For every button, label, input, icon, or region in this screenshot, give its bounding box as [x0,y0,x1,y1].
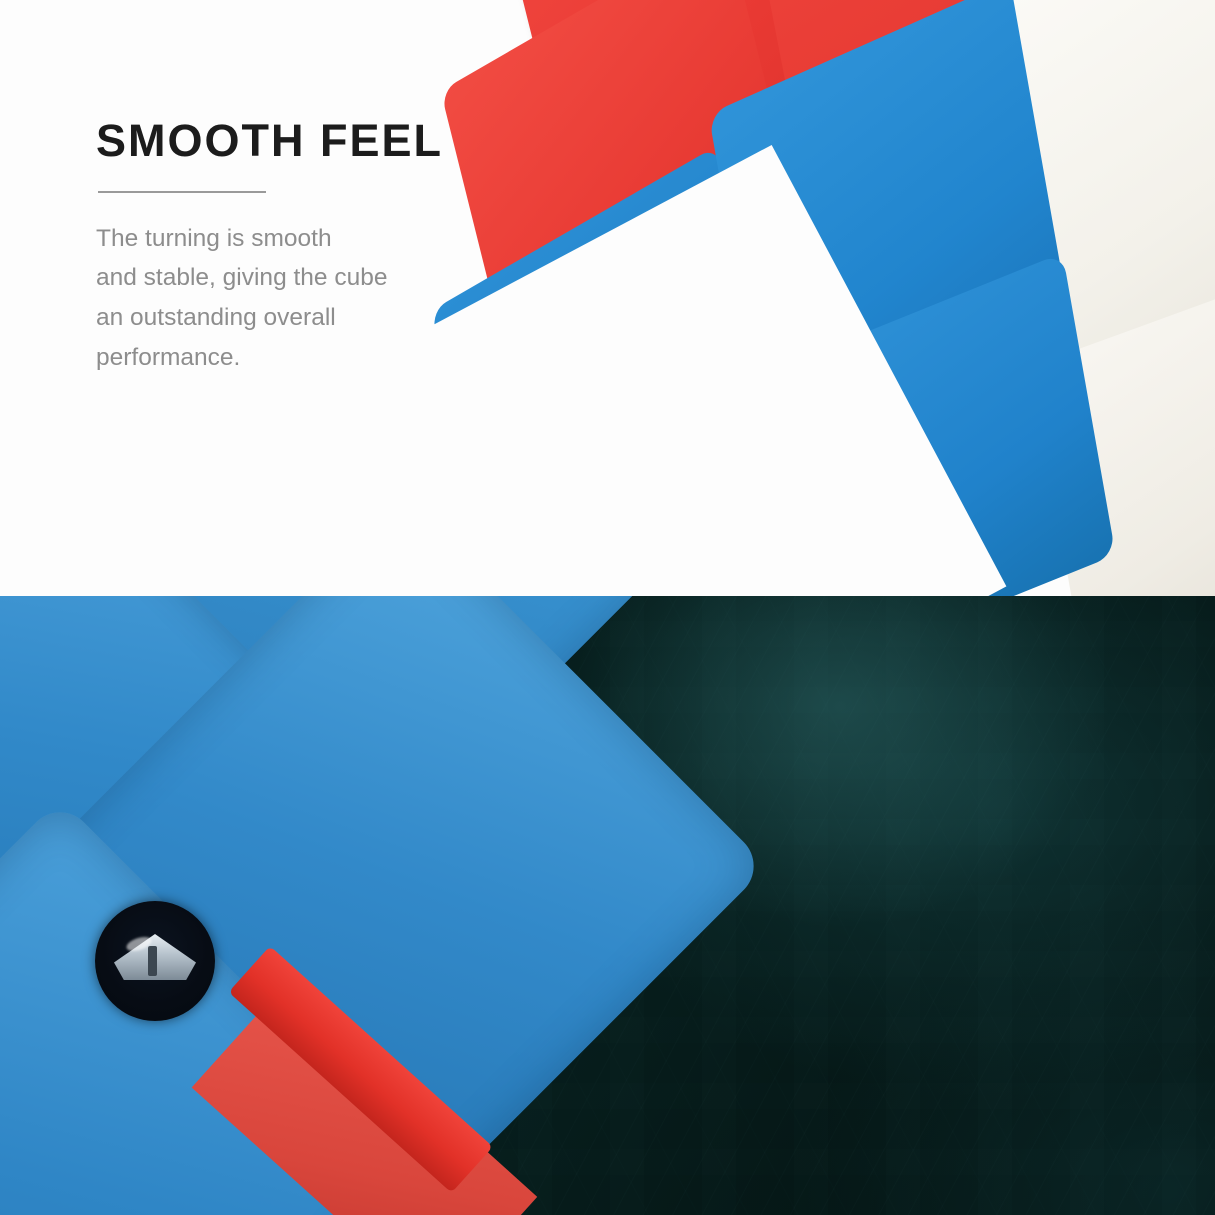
smooth-feel-panel: SMOOTH FEEL The turning is smooth and st… [0,0,1215,596]
cube-core-screw-slot [148,946,157,976]
cube-photo-top [430,0,1215,596]
smooth-feel-text-block: SMOOTH FEEL The turning is smooth and st… [96,118,496,378]
smooth-feel-body-line-1: The turning is smooth [96,225,332,252]
smooth-feel-body-line-4: performance. [96,344,240,371]
product-feature-page: SMOOTH FEEL The turning is smooth and st… [0,0,1215,1215]
smooth-feel-body-line-2: and stable, giving the cube [96,264,388,291]
cube-macro-photo-bottom [0,596,740,1215]
smooth-feel-heading: SMOOTH FEEL [96,118,496,165]
smooth-feel-body: The turning is smooth and stable, giving… [96,219,496,378]
smooth-feel-body-line-3: an outstanding overall [96,304,336,331]
smooth-feel-divider [98,191,266,193]
frosted-design-panel: FROSTED DESIGN Frosted design on the sur… [0,596,1215,1215]
